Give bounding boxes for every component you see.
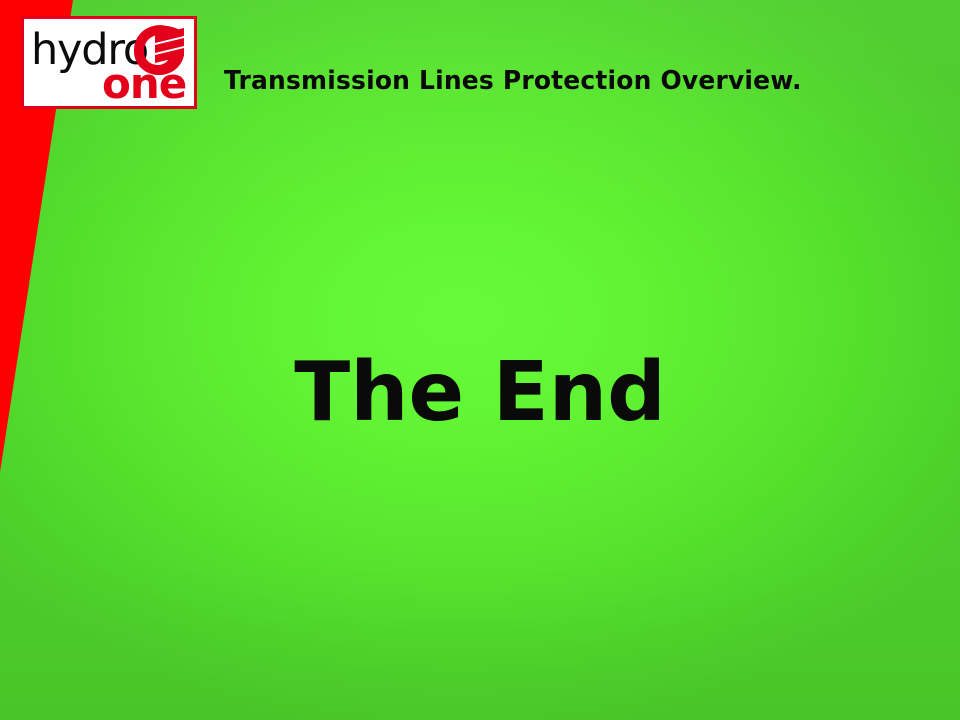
- hydro-one-logo: hydro one: [21, 16, 197, 109]
- slide-body-text: The End: [0, 352, 960, 434]
- logo-wordmark-one: one: [102, 63, 186, 105]
- presentation-slide: hydro one Transmission Lines Protection …: [0, 0, 960, 720]
- slide-title: Transmission Lines Protection Overview.: [224, 66, 802, 96]
